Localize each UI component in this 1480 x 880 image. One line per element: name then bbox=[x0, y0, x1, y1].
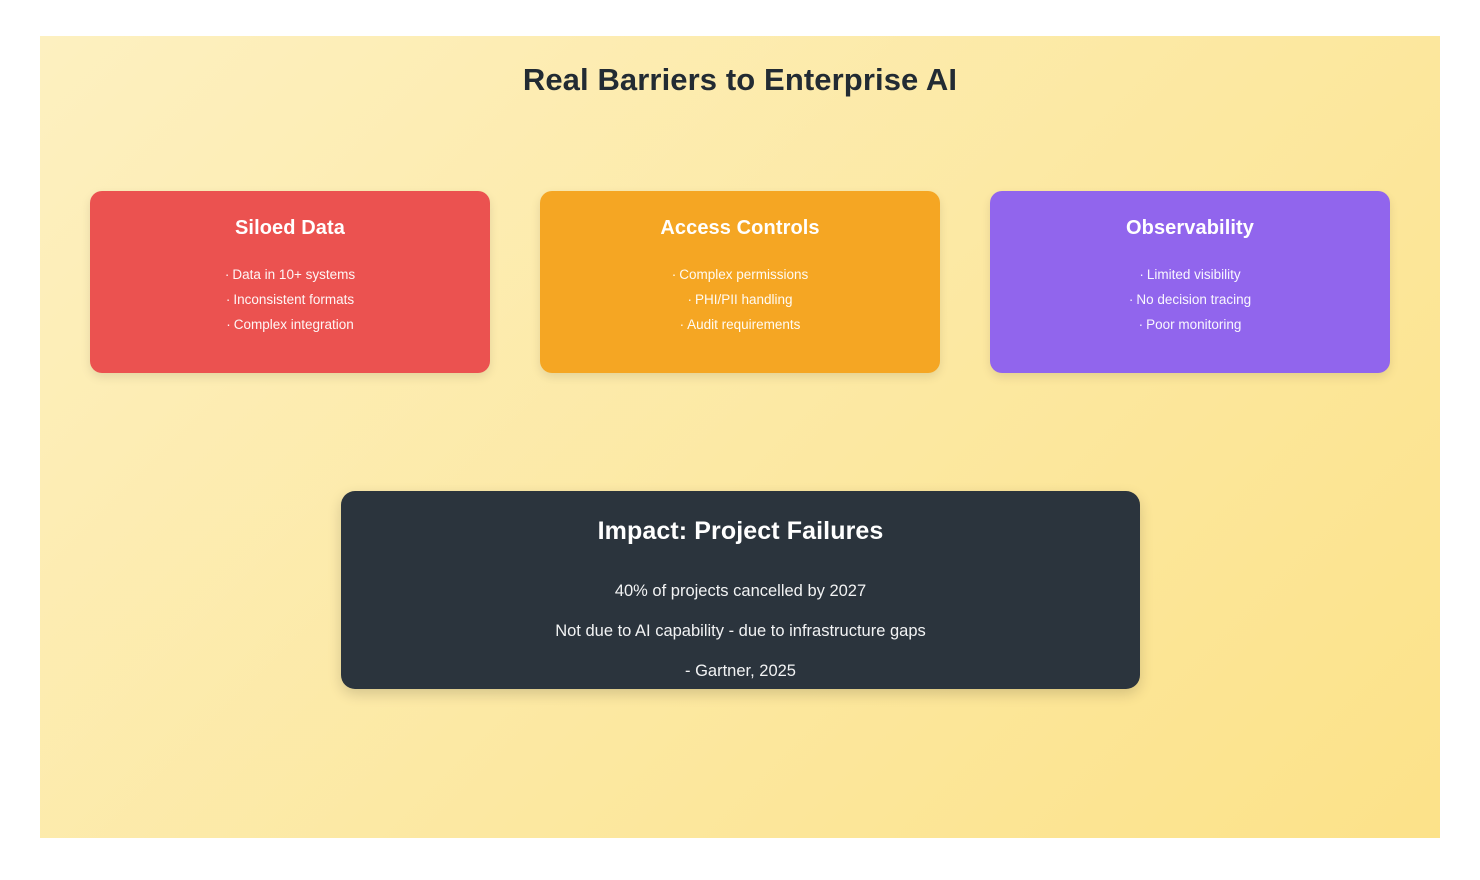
list-item: ·Inconsistent formats bbox=[108, 287, 472, 312]
list-item: ·Complex permissions bbox=[558, 262, 922, 287]
bullet-dot-icon: · bbox=[672, 267, 677, 282]
list-item: ·Audit requirements bbox=[558, 312, 922, 337]
bullet-dot-icon: · bbox=[1139, 317, 1144, 332]
page-title: Real Barriers to Enterprise AI bbox=[40, 62, 1440, 98]
barrier-card-title: Siloed Data bbox=[108, 217, 472, 240]
list-item-label: No decision tracing bbox=[1136, 292, 1251, 307]
slide-canvas: Real Barriers to Enterprise AI Siloed Da… bbox=[40, 36, 1440, 838]
list-item: ·Complex integration bbox=[108, 312, 472, 337]
list-item: ·Limited visibility bbox=[1008, 262, 1372, 287]
bullet-dot-icon: · bbox=[225, 267, 230, 282]
bullet-dot-icon: · bbox=[226, 292, 231, 307]
list-item-label: Inconsistent formats bbox=[233, 292, 354, 307]
barrier-card-observability[interactable]: Observability ·Limited visibility ·No de… bbox=[990, 191, 1390, 373]
list-item-label: Data in 10+ systems bbox=[232, 267, 355, 282]
impact-card-title: Impact: Project Failures bbox=[341, 517, 1140, 546]
impact-explanation: Not due to AI capability - due to infras… bbox=[341, 611, 1140, 651]
bullet-dot-icon: · bbox=[680, 317, 685, 332]
impact-card[interactable]: Impact: Project Failures 40% of projects… bbox=[341, 491, 1140, 689]
list-item-label: Poor monitoring bbox=[1146, 317, 1241, 332]
bullet-dot-icon: · bbox=[226, 317, 231, 332]
list-item: ·Data in 10+ systems bbox=[108, 262, 472, 287]
list-item-label: Complex integration bbox=[234, 317, 354, 332]
bullet-dot-icon: · bbox=[1129, 292, 1134, 307]
barrier-card-title: Access Controls bbox=[558, 217, 922, 240]
list-item-label: PHI/PII handling bbox=[695, 292, 793, 307]
bullet-dot-icon: · bbox=[1139, 267, 1144, 282]
barrier-bullet-list: ·Data in 10+ systems ·Inconsistent forma… bbox=[108, 262, 472, 337]
list-item: ·Poor monitoring bbox=[1008, 312, 1372, 337]
list-item-label: Complex permissions bbox=[679, 267, 808, 282]
barrier-card-title: Observability bbox=[1008, 217, 1372, 240]
bullet-dot-icon: · bbox=[687, 292, 692, 307]
barrier-bullet-list: ·Limited visibility ·No decision tracing… bbox=[1008, 262, 1372, 337]
impact-source-attribution: - Gartner, 2025 bbox=[341, 651, 1140, 691]
impact-statistic: 40% of projects cancelled by 2027 bbox=[341, 571, 1140, 611]
list-item: ·No decision tracing bbox=[1008, 287, 1372, 312]
barrier-bullet-list: ·Complex permissions ·PHI/PII handling ·… bbox=[558, 262, 922, 337]
list-item: ·PHI/PII handling bbox=[558, 287, 922, 312]
barriers-row: Siloed Data ·Data in 10+ systems ·Incons… bbox=[90, 191, 1390, 373]
list-item-label: Audit requirements bbox=[687, 317, 800, 332]
list-item-label: Limited visibility bbox=[1147, 267, 1241, 282]
barrier-card-siloed-data[interactable]: Siloed Data ·Data in 10+ systems ·Incons… bbox=[90, 191, 490, 373]
barrier-card-access-controls[interactable]: Access Controls ·Complex permissions ·PH… bbox=[540, 191, 940, 373]
